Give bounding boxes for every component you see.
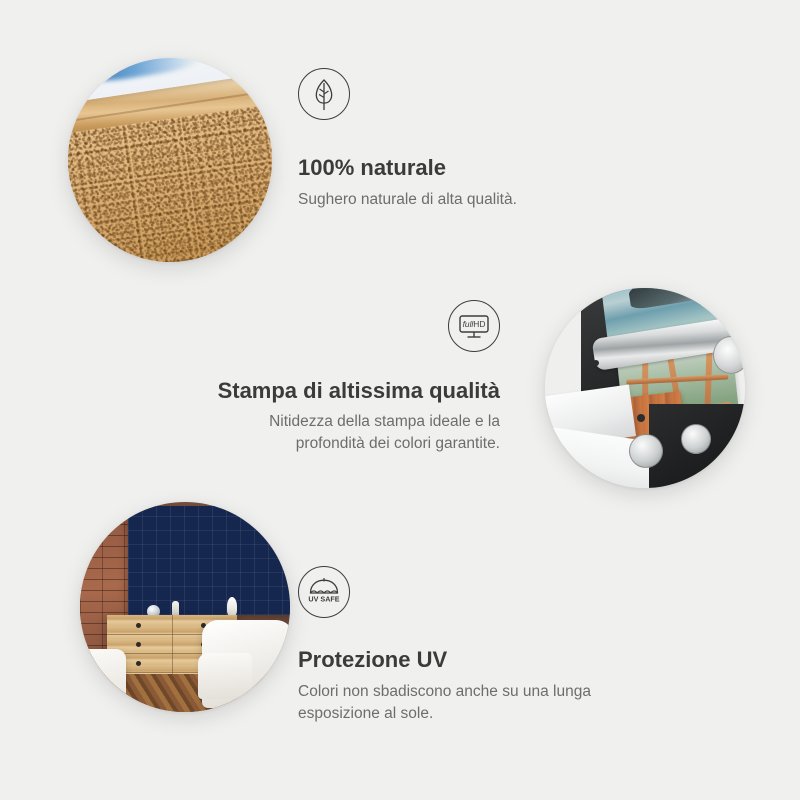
cork-texture-photo bbox=[68, 58, 272, 262]
uv-safe-label: UV SAFE bbox=[308, 595, 339, 604]
printer-bolt-upper bbox=[593, 360, 599, 366]
fullhd-monitor-icon: fullHD bbox=[448, 300, 500, 352]
feature-title: Protezione UV bbox=[298, 646, 668, 674]
feature-title: Stampa di altissima qualità bbox=[200, 377, 500, 405]
feature-description-line-2: profondità dei colori garantite. bbox=[200, 433, 500, 455]
decor-lamp bbox=[172, 601, 179, 617]
printing-machine-photo bbox=[545, 288, 745, 488]
svg-text:fullHD: fullHD bbox=[463, 319, 486, 329]
living-room-world-map-photo bbox=[80, 502, 290, 712]
feature-description-line-1: Colori non sbadiscono anche su una lunga bbox=[298, 681, 668, 703]
cork-granule-field-detail bbox=[68, 104, 272, 262]
printer-knob-right bbox=[681, 424, 711, 454]
world-map-canvas bbox=[128, 506, 290, 615]
leaf-icon bbox=[298, 68, 350, 120]
white-armchair-left bbox=[80, 649, 126, 712]
printer-knob-center bbox=[629, 434, 663, 468]
decor-vase bbox=[227, 597, 237, 616]
world-map-gridlines bbox=[128, 506, 290, 615]
umbrella-uv-safe-icon: UV SAFE bbox=[298, 566, 350, 618]
feature-title: 100% naturale bbox=[298, 154, 628, 182]
feature-description: Colori non sbadiscono anche su una lunga… bbox=[298, 681, 668, 725]
feature-description: Sughero naturale di alta qualità. bbox=[298, 189, 628, 211]
feature-description-line-2: esposizione al sole. bbox=[298, 703, 668, 725]
printer-bolt bbox=[637, 414, 645, 422]
feature-uv-protection: UV SAFE Protezione UV Colori non sbadisc… bbox=[298, 566, 668, 725]
white-armchair-arm bbox=[198, 653, 253, 699]
feature-description: Nitidezza della stampa ideale e la profo… bbox=[200, 411, 500, 455]
feature-description-line-1: Nitidezza della stampa ideale e la bbox=[200, 411, 500, 433]
printer-roller-cap bbox=[713, 336, 745, 374]
feature-natural: 100% naturale Sughero naturale di alta q… bbox=[298, 68, 628, 211]
feature-print-quality: fullHD Stampa di altissima qualità Nitid… bbox=[200, 300, 500, 455]
promo-feature-board: 100% naturale Sughero naturale di alta q… bbox=[0, 0, 800, 800]
